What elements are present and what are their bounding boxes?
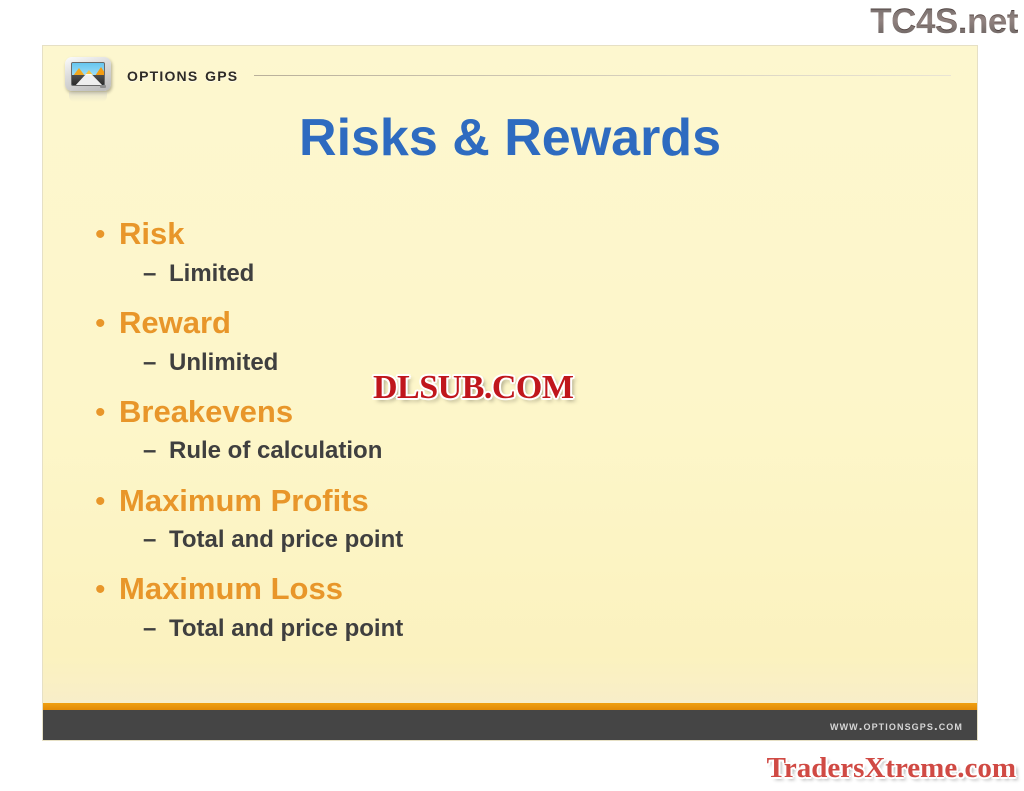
- dash-marker-icon: –: [143, 351, 169, 375]
- sub-bullet-item-risk: – Limited: [143, 258, 947, 289]
- dash-marker-icon: –: [143, 262, 169, 286]
- presentation-slide: Options GPS Risks & Rewards • Risk – Lim…: [42, 45, 978, 741]
- gps-device-screen: [71, 62, 105, 86]
- tc4s-brand-label: TC4S.net: [870, 2, 1018, 42]
- bullet-marker-icon: •: [95, 309, 119, 339]
- bullet-label: Reward: [119, 303, 231, 343]
- slide-title: Risks & Rewards: [43, 108, 977, 168]
- gps-device-icon: [61, 55, 113, 95]
- sub-bullet-label: Unlimited: [169, 347, 278, 378]
- tradersxtreme-brand-label: TradersXtreme.com: [767, 752, 1016, 785]
- bullet-marker-icon: •: [95, 575, 119, 605]
- bullet-label: Breakevens: [119, 392, 293, 432]
- bullet-label: Risk: [119, 214, 184, 254]
- bullet-marker-icon: •: [95, 220, 119, 250]
- gps-device-reflection: [69, 92, 107, 102]
- bullet-item-maximum-loss: • Maximum Loss: [95, 569, 947, 609]
- options-gps-wordmark: Options GPS: [127, 64, 238, 87]
- header-divider-rule: [254, 75, 951, 76]
- gps-device-body: [65, 57, 111, 91]
- slide-body-list: • Risk – Limited • Reward – Unlimited • …: [95, 214, 947, 658]
- sub-bullet-label: Total and price point: [169, 524, 403, 555]
- bullet-item-risk: • Risk: [95, 214, 947, 254]
- slide-footer-bar: www.OptionsGPS.com: [43, 710, 977, 740]
- sub-bullet-item-maximum-loss: – Total and price point: [143, 613, 947, 644]
- dash-marker-icon: –: [143, 617, 169, 641]
- sub-bullet-item-breakevens: – Rule of calculation: [143, 435, 947, 466]
- dash-marker-icon: –: [143, 528, 169, 552]
- bullet-label: Maximum Loss: [119, 569, 343, 609]
- bullet-label: Maximum Profits: [119, 481, 369, 521]
- gps-device-button: [100, 85, 106, 88]
- dlsub-watermark: DLSUB.COM: [373, 369, 573, 407]
- sub-bullet-label: Rule of calculation: [169, 435, 382, 466]
- footer-orange-stripe: [43, 703, 977, 710]
- bullet-marker-icon: •: [95, 487, 119, 517]
- sub-bullet-label: Total and price point: [169, 613, 403, 644]
- footer-website-url: www.OptionsGPS.com: [830, 718, 963, 733]
- bullet-item-maximum-profits: • Maximum Profits: [95, 481, 947, 521]
- sub-bullet-item-maximum-profits: – Total and price point: [143, 524, 947, 555]
- bullet-marker-icon: •: [95, 398, 119, 428]
- sub-bullet-label: Limited: [169, 258, 254, 289]
- slide-header: Options GPS: [43, 46, 977, 104]
- dash-marker-icon: –: [143, 439, 169, 463]
- bullet-item-reward: • Reward: [95, 303, 947, 343]
